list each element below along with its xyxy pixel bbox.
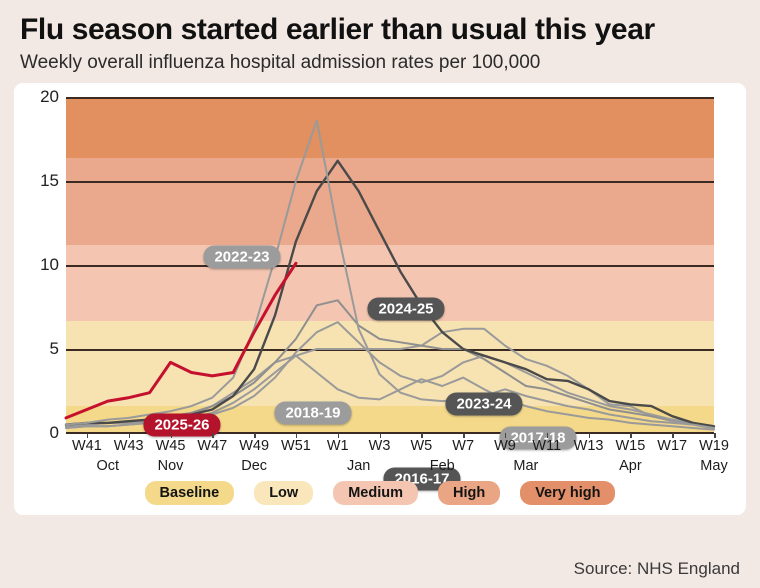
x-axis-tick-label: W13 <box>574 438 604 454</box>
legend-item-high[interactable]: High <box>438 481 500 505</box>
x-axis-tick-label: W45 <box>156 438 186 454</box>
legend-item-baseline[interactable]: Baseline <box>145 481 235 505</box>
series-layer <box>66 97 714 433</box>
plot-area: 05101520 2025-262022-232024-252018-19202… <box>66 97 714 433</box>
page-title: Flu season started earlier than usual th… <box>20 14 746 46</box>
series-line-2024-25 <box>66 161 714 427</box>
x-axis-tick-label: W41 <box>72 438 102 454</box>
x-axis-month-label: May <box>700 458 727 474</box>
page-subtitle: Weekly overall influenza hospital admiss… <box>20 53 746 74</box>
x-axis-month-label: Nov <box>158 458 184 474</box>
x-axis-tick-label: W47 <box>197 438 227 454</box>
series-label-2023-24[interactable]: 2023-24 <box>445 393 522 416</box>
series-line-2025-26 <box>66 264 296 419</box>
series-label-2022-23[interactable]: 2022-23 <box>203 246 280 269</box>
legend-item-medium[interactable]: Medium <box>333 481 418 505</box>
x-axis-tick-label: W43 <box>114 438 144 454</box>
x-axis-month-label: Jan <box>347 458 370 474</box>
x-axis-tick-label: W15 <box>615 438 645 454</box>
series-label-2018-19[interactable]: 2018-19 <box>274 402 351 425</box>
source-note: Source: NHS England <box>574 559 740 579</box>
x-axis-tick-label: W49 <box>239 438 269 454</box>
x-axis-month-label: Mar <box>513 458 538 474</box>
x-axis-tick-label: W1 <box>327 438 349 454</box>
series-lines <box>66 97 714 433</box>
legend: BaselineLowMediumHighVery high <box>14 481 746 505</box>
legend-item-very-high[interactable]: Very high <box>520 481 615 505</box>
x-axis-tick-label: W3 <box>369 438 391 454</box>
x-axis-month-label: Oct <box>97 458 120 474</box>
x-axis-tick-label: W5 <box>410 438 432 454</box>
y-axis-tick-label: 5 <box>50 339 59 359</box>
x-axis-tick-label: W7 <box>452 438 474 454</box>
x-axis-tick-label: W17 <box>657 438 687 454</box>
y-axis-tick-label: 15 <box>40 171 59 191</box>
y-axis-tick-label: 20 <box>40 87 59 107</box>
series-label-2024-25[interactable]: 2024-25 <box>367 298 444 321</box>
x-axis-tick-label: W9 <box>494 438 516 454</box>
y-axis-tick-label: 0 <box>50 423 59 443</box>
y-axis-tick-label: 10 <box>40 255 59 275</box>
x-axis-month-label: Dec <box>241 458 267 474</box>
legend-item-low[interactable]: Low <box>254 481 313 505</box>
x-axis-tick-label: W11 <box>532 438 561 454</box>
x-axis-tick-label: W51 <box>281 438 311 454</box>
series-line-2022-23 <box>66 121 714 429</box>
x-axis-tick-label: W19 <box>699 438 729 454</box>
infographic-page: Flu season started earlier than usual th… <box>0 14 760 588</box>
x-axis-month-label: Feb <box>430 458 455 474</box>
x-axis-month-label: Apr <box>619 458 642 474</box>
chart-card: 05101520 2025-262022-232024-252018-19202… <box>14 83 746 515</box>
